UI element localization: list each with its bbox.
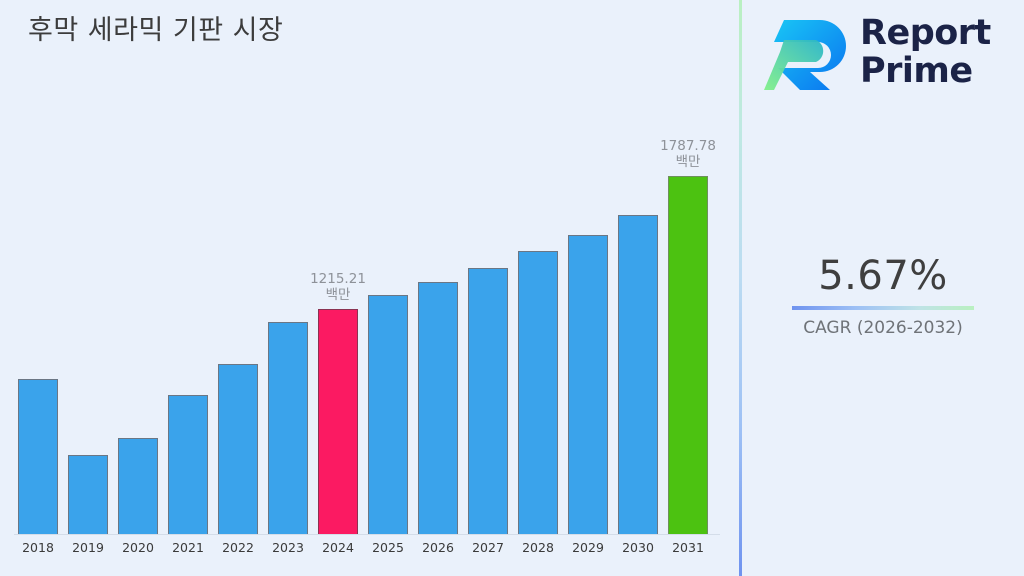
x-axis-baseline bbox=[14, 534, 720, 535]
chart-panel: 후막 세라믹 기판 시장 1215.21 백만1787.78 백만 201820… bbox=[0, 0, 740, 576]
x-tick-2029: 2029 bbox=[568, 540, 608, 555]
bar-2020[interactable] bbox=[118, 110, 158, 534]
cagr-value: 5.67% bbox=[742, 252, 1024, 300]
x-tick-2022: 2022 bbox=[218, 540, 258, 555]
bar-rect-2027[interactable] bbox=[468, 268, 508, 534]
x-tick-2020: 2020 bbox=[118, 540, 158, 555]
bar-rect-2025[interactable] bbox=[368, 295, 408, 534]
x-tick-2019: 2019 bbox=[68, 540, 108, 555]
x-tick-2024: 2024 bbox=[318, 540, 358, 555]
x-tick-2031: 2031 bbox=[668, 540, 708, 555]
bar-2018[interactable] bbox=[18, 110, 58, 534]
bar-2030[interactable] bbox=[618, 110, 658, 534]
x-tick-2021: 2021 bbox=[168, 540, 208, 555]
bar-rect-2022[interactable] bbox=[218, 364, 258, 534]
bar-2031[interactable]: 1787.78 백만 bbox=[668, 110, 708, 534]
bar-chart-plot-area: 1215.21 백만1787.78 백만 bbox=[0, 110, 722, 534]
bar-rect-2023[interactable] bbox=[268, 322, 308, 534]
brand-logo: Report Prime bbox=[764, 14, 1010, 96]
brand-name-line2: Prime bbox=[860, 52, 991, 90]
bar-2026[interactable] bbox=[418, 110, 458, 534]
bar-2027[interactable] bbox=[468, 110, 508, 534]
page-title: 후막 세라믹 기판 시장 bbox=[28, 8, 283, 47]
bar-value-label-2031: 1787.78 백만 bbox=[633, 138, 743, 170]
bar-2022[interactable] bbox=[218, 110, 258, 534]
x-axis-tick-labels: 2018201920202021202220232024202520262027… bbox=[0, 540, 722, 564]
brand-name: Report Prime bbox=[860, 14, 991, 90]
bar-2029[interactable] bbox=[568, 110, 608, 534]
bar-rect-2019[interactable] bbox=[68, 455, 108, 534]
cagr-divider-rule bbox=[792, 306, 974, 310]
bar-2024[interactable]: 1215.21 백만 bbox=[318, 110, 358, 534]
bar-2023[interactable] bbox=[268, 110, 308, 534]
bar-2019[interactable] bbox=[68, 110, 108, 534]
report-prime-r-mark-icon bbox=[764, 16, 852, 92]
bar-rect-2026[interactable] bbox=[418, 282, 458, 534]
side-panel: Report Prime 5.67% CAGR (2026-2032) bbox=[742, 0, 1024, 576]
x-tick-2028: 2028 bbox=[518, 540, 558, 555]
bar-rect-2031[interactable] bbox=[668, 176, 708, 534]
bar-rect-2021[interactable] bbox=[168, 395, 208, 534]
x-tick-2030: 2030 bbox=[618, 540, 658, 555]
bar-rect-2024[interactable] bbox=[318, 309, 358, 534]
bar-rect-2028[interactable] bbox=[518, 251, 558, 534]
x-tick-2026: 2026 bbox=[418, 540, 458, 555]
cagr-block: 5.67% CAGR (2026-2032) bbox=[742, 252, 1024, 339]
bar-2021[interactable] bbox=[168, 110, 208, 534]
bar-2025[interactable] bbox=[368, 110, 408, 534]
brand-name-line1: Report bbox=[860, 14, 991, 52]
bar-rect-2020[interactable] bbox=[118, 438, 158, 534]
bar-rect-2018[interactable] bbox=[18, 379, 58, 534]
cagr-caption: CAGR (2026-2032) bbox=[742, 317, 1024, 339]
x-tick-2027: 2027 bbox=[468, 540, 508, 555]
x-tick-2023: 2023 bbox=[268, 540, 308, 555]
bar-2028[interactable] bbox=[518, 110, 558, 534]
bar-rect-2030[interactable] bbox=[618, 215, 658, 534]
chart-infographic: 후막 세라믹 기판 시장 1215.21 백만1787.78 백만 201820… bbox=[0, 0, 1024, 576]
bar-rect-2029[interactable] bbox=[568, 235, 608, 534]
x-tick-2025: 2025 bbox=[368, 540, 408, 555]
x-tick-2018: 2018 bbox=[18, 540, 58, 555]
